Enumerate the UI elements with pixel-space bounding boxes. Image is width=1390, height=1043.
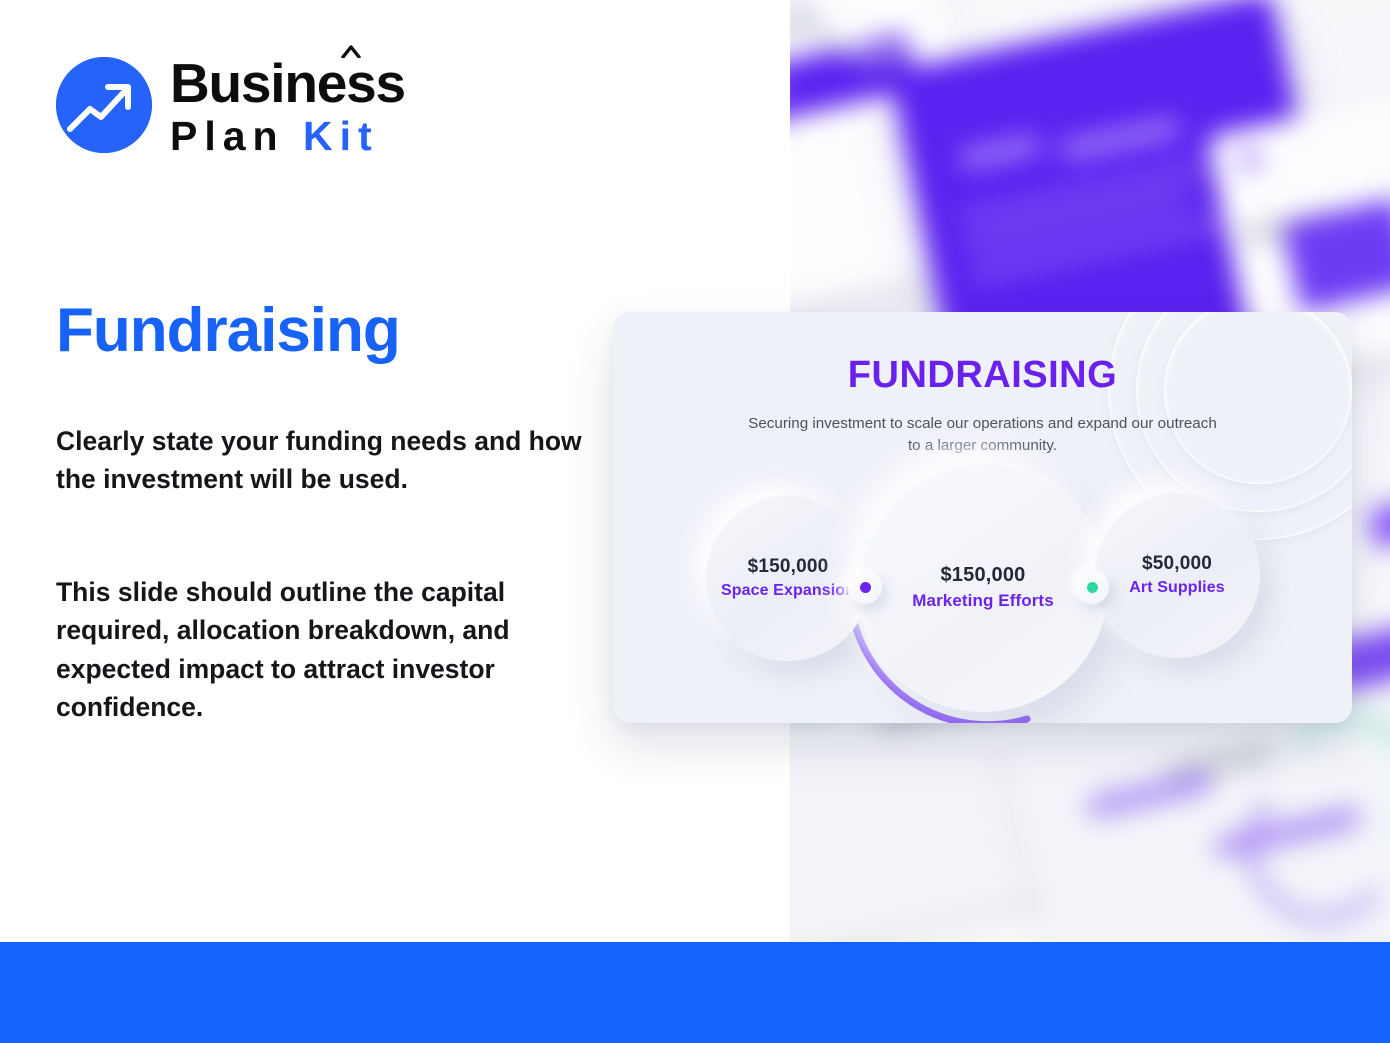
slide-preview-card[interactable]: FUNDRAISING Securing investment to scale… xyxy=(613,312,1352,723)
allocation-bubble-space-expansion[interactable]: $150,000 Space Expansion xyxy=(705,495,871,661)
intro-paragraph-2: This slide should outline the capital re… xyxy=(56,573,586,727)
fundraising-allocation-diagram: $150,000 Space Expansion $150,000 Market… xyxy=(613,462,1352,712)
right-connector-dot xyxy=(1075,570,1109,604)
allocation-label: Space Expansion xyxy=(721,582,855,600)
slide-page: Business Plan Kit Fundraising Clearly st… xyxy=(0,0,1390,1043)
allocation-amount: $50,000 xyxy=(1142,553,1212,575)
brand-logo[interactable]: Business Plan Kit xyxy=(56,52,405,157)
allocation-bubble-art-supplies[interactable]: $50,000 Art Supplies xyxy=(1094,492,1260,658)
brand-line-2-kit: Kit xyxy=(303,113,379,159)
page-title: Fundraising xyxy=(56,295,400,366)
allocation-label: Art Supplies xyxy=(1129,579,1224,597)
footer-bar xyxy=(0,942,1390,1043)
left-connector-dot xyxy=(848,570,882,604)
allocation-amount: $150,000 xyxy=(748,556,829,578)
growth-arrow-circle-icon xyxy=(56,57,152,153)
circumflex-accent-icon xyxy=(341,45,361,58)
brand-line-1: Business xyxy=(170,56,405,111)
bg-accent-right-2 xyxy=(1367,490,1390,549)
slide-subtitle: Securing investment to scale our operati… xyxy=(748,413,1218,456)
brand-line-2: Plan Kit xyxy=(170,116,405,157)
allocation-label: Marketing Efforts xyxy=(912,591,1054,611)
allocation-amount: $150,000 xyxy=(940,564,1025,587)
brand-wordmark: Business Plan Kit xyxy=(170,52,405,157)
brand-line-1-text: Business xyxy=(170,52,405,114)
allocation-bubble-marketing-efforts[interactable]: $150,000 Marketing Efforts xyxy=(858,462,1108,712)
brand-line-2-plan: Plan xyxy=(170,113,285,159)
slide-title: FUNDRAISING xyxy=(613,354,1352,397)
intro-paragraph-1: Clearly state your funding needs and how… xyxy=(56,422,586,499)
